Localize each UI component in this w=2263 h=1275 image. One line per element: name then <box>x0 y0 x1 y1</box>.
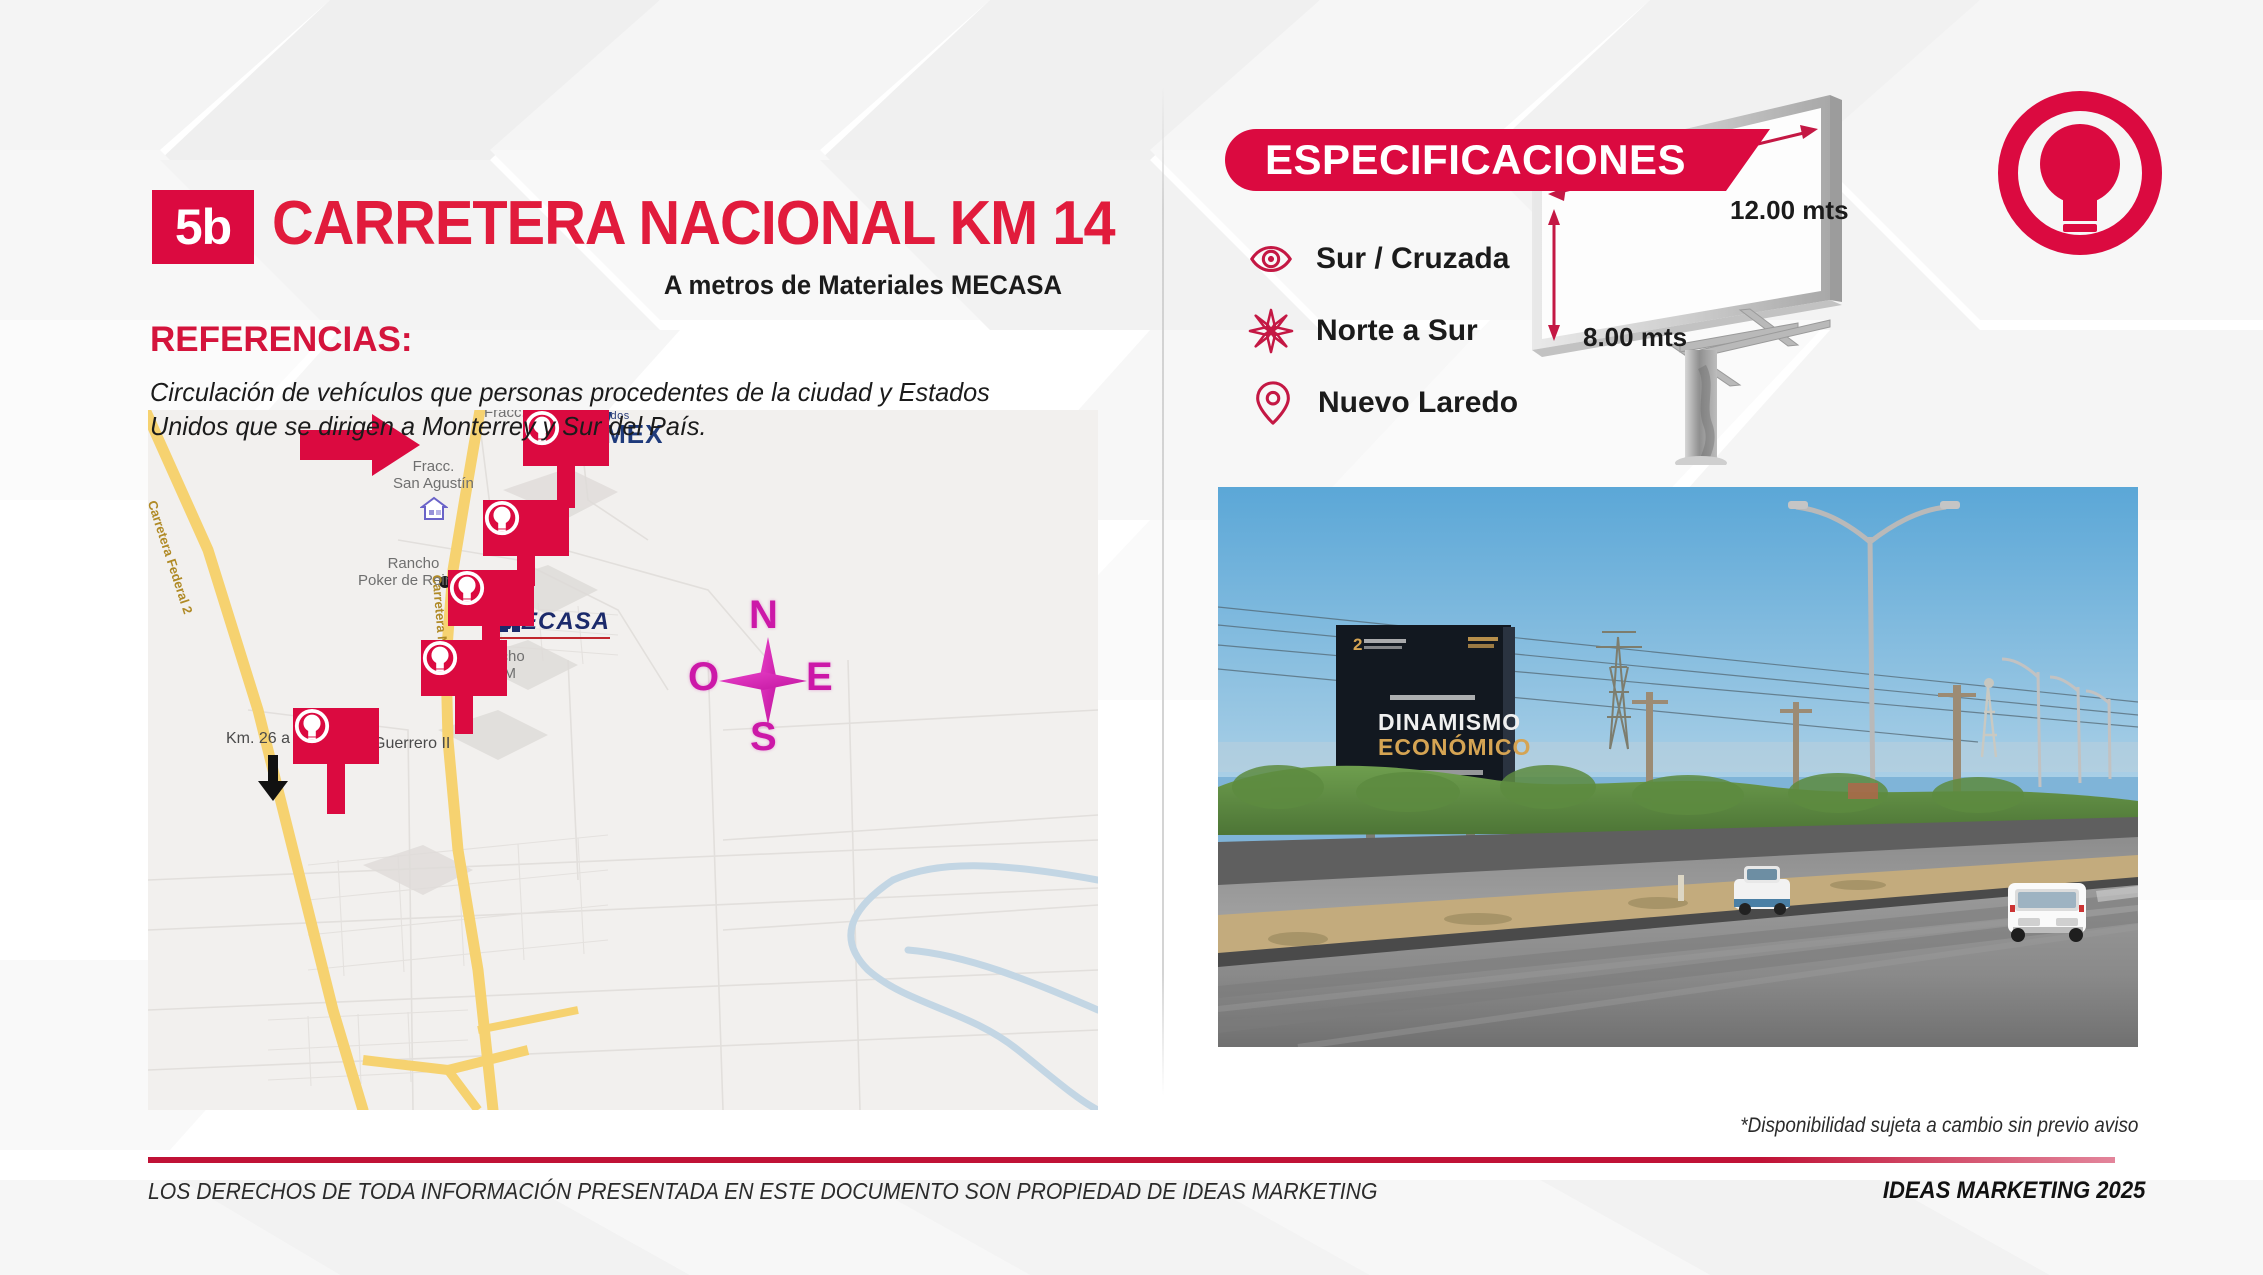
map-down-arrow-icon <box>258 755 288 801</box>
spec-row-orientation: Sur / Cruzada <box>1248 236 1509 282</box>
specifications-header: ESPECIFICACIONES <box>1225 129 1726 191</box>
page-subtitle: A metros de Materiales MECASA <box>312 270 1063 301</box>
compass-rose: N S E O <box>693 605 843 770</box>
availability-disclaimer: *Disponibilidad sujeta a cambio sin prev… <box>1740 1114 2138 1138</box>
eye-icon <box>1248 236 1294 282</box>
compass-north-label: N <box>749 593 778 638</box>
references-text: Circulación de vehículos que personas pr… <box>150 376 1057 444</box>
billboard-marker-2[interactable] <box>483 500 569 556</box>
slide-number-badge: 5b <box>152 190 254 264</box>
lightbulb-icon <box>483 500 521 538</box>
photo-content: 2 DINAMISMO ECONÓMICO <box>1218 487 2138 1047</box>
billboard-width-label: 12.00 mts <box>1730 195 1849 226</box>
billboard-location-photo[interactable]: 2 DINAMISMO ECONÓMICO <box>1218 487 2138 1047</box>
compass-south-label: S <box>750 715 777 760</box>
footer-rights: LOS DERECHOS DE TODA INFORMACIÓN PRESENT… <box>148 1178 1377 1205</box>
billboard-marker-3[interactable] <box>448 570 534 626</box>
panel-divider <box>1162 86 1164 1096</box>
spec-row-direction: Norte a Sur <box>1248 308 1478 354</box>
svg-text:DINAMISMO: DINAMISMO <box>1378 709 1521 735</box>
lightbulb-icon <box>293 708 331 746</box>
spec-label-direction: Norte a Sur <box>1316 314 1478 348</box>
billboard-marker-4[interactable] <box>421 640 507 696</box>
footer-divider <box>148 1157 2115 1163</box>
references-label: REFERENCIAS: <box>150 320 413 360</box>
ideas-marketing-lightbulb-logo <box>1995 88 2165 258</box>
compass-star-icon <box>1248 308 1294 354</box>
spec-row-city: Nuevo Laredo <box>1250 380 1518 426</box>
compass-west-label: O <box>688 655 719 700</box>
marker-stem <box>327 764 345 814</box>
spec-label-city: Nuevo Laredo <box>1318 386 1518 420</box>
location-pin-icon <box>1250 380 1296 426</box>
billboard-marker-5[interactable] <box>293 708 379 764</box>
house-icon <box>420 495 448 521</box>
spec-label-orientation: Sur / Cruzada <box>1316 242 1509 276</box>
location-map[interactable]: Fracc. Guerrero Fracc. San Agustín Ranch… <box>148 410 1098 1110</box>
compass-east-label: E <box>806 655 833 700</box>
lightbulb-icon <box>421 640 459 678</box>
billboard-height-label: 8.00 mts <box>1583 322 1687 353</box>
svg-text:2: 2 <box>1353 635 1362 654</box>
svg-text:ECONÓMICO: ECONÓMICO <box>1378 733 1531 760</box>
marker-stem <box>455 696 473 734</box>
map-base <box>148 410 1098 1110</box>
footer-company: IDEAS MARKETING 2025 <box>1882 1177 2145 1205</box>
page-title: CARRETERA NACIONAL KM 14 <box>272 188 1115 259</box>
lightbulb-icon <box>448 570 486 608</box>
